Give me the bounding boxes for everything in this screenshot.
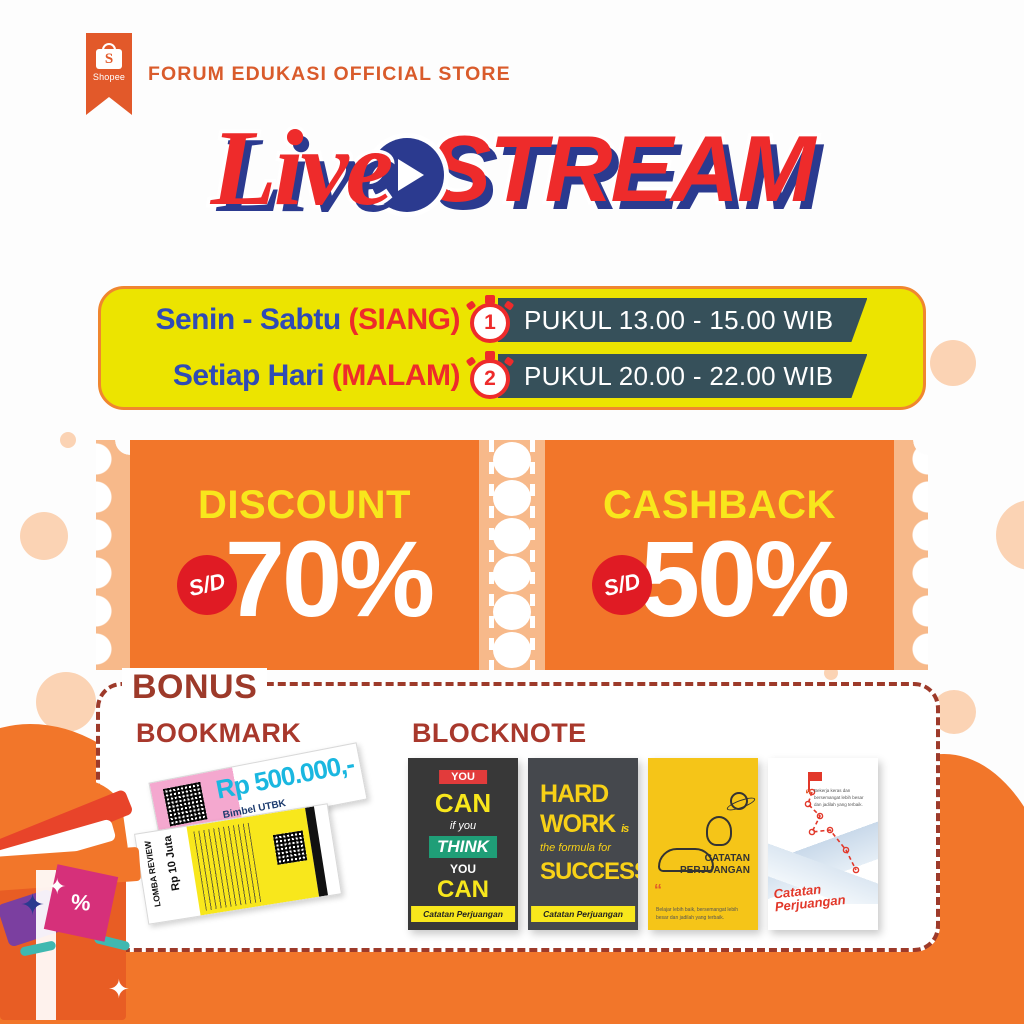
title-stream: STREAM — [428, 122, 813, 216]
schedule-day: Senin - Sabtu (SIANG) — [101, 303, 466, 337]
note-line-2: WORK is — [540, 810, 628, 839]
store-header: S Shopee FORUM EDUKASI OFFICIAL STORE — [86, 33, 511, 115]
note-line-3: if you — [408, 820, 518, 832]
note-line-1: HARD — [540, 780, 608, 809]
stopwatch-icon: 2 — [468, 351, 512, 401]
decor-dot — [20, 512, 68, 560]
promo-poster: S Shopee FORUM EDUKASI OFFICIAL STORE Li… — [0, 0, 1024, 1024]
stopwatch-number: 1 — [470, 303, 510, 343]
note-line-2: CAN — [408, 788, 518, 819]
shopee-logo-text: Shopee — [93, 72, 125, 82]
decor-dot — [996, 500, 1024, 570]
star-icon: ✦ — [20, 888, 45, 923]
note-line-4: SUCCESS — [540, 858, 638, 886]
note-line-3: the formula for — [540, 842, 611, 854]
schedule-row: Setiap Hari (MALAM) 2 PUKUL 20.00 - 22.0… — [101, 350, 923, 402]
decor-dot — [60, 432, 76, 448]
note-badge: Catatan Perjuangan — [411, 906, 515, 922]
title-live: Live — [211, 118, 391, 221]
schedule-period: (SIANG) — [349, 303, 461, 336]
coupon-perforation — [479, 440, 545, 670]
schedule-panel: Senin - Sabtu (SIANG) 1 PUKUL 13.00 - 15… — [98, 286, 926, 410]
gift-box-illustration: % ✦ ✦ ✦ — [0, 778, 180, 1024]
blocknote-cover: “ Bekerja keras dan bersemangat lebih be… — [768, 758, 878, 930]
stopwatch-number: 2 — [470, 359, 510, 399]
bonus-title: BONUS — [122, 668, 267, 707]
planet-icon — [730, 792, 748, 810]
discount-value: 70% — [225, 530, 432, 627]
cashback-coupon: CASHBACK S/D 50% — [545, 440, 894, 670]
quote-icon: “ — [805, 786, 812, 802]
qr-code-icon — [273, 830, 307, 864]
schedule-day: Setiap Hari (MALAM) — [101, 359, 466, 393]
decor-dot — [930, 340, 976, 386]
schedule-time: PUKUL 13.00 - 15.00 WIB — [498, 298, 867, 342]
cashback-value: 50% — [640, 530, 847, 627]
shopee-logo-letter: S — [96, 51, 122, 68]
schedule-row: Senin - Sabtu (SIANG) 1 PUKUL 13.00 - 15… — [101, 294, 923, 346]
schedule-period: (MALAM) — [332, 359, 460, 392]
discount-coupon: DISCOUNT S/D 70% — [130, 440, 479, 670]
coupon-scallop-left — [96, 440, 130, 670]
blocknote-cover: CATATAN PERJUANGAN “ Belajar lebih baik,… — [648, 758, 758, 930]
decor-dot — [36, 672, 96, 732]
quote-icon: “ — [654, 882, 662, 900]
note-quote: Belajar lebih baik, bersemangat lebih be… — [656, 907, 750, 922]
page-title: Live STREAM — [0, 118, 1024, 221]
star-icon: ✦ — [48, 874, 66, 900]
star-icon: ✦ — [108, 974, 130, 1005]
blocknote-images: YOU CAN if you THINK YOU CAN Catatan Per… — [408, 758, 878, 930]
lightbulb-icon — [706, 816, 732, 846]
note-caption: CATATAN PERJUANGAN — [648, 853, 750, 876]
note-line-6: CAN — [408, 876, 518, 904]
coupon-scallop-right — [894, 440, 928, 670]
blocknote-label: BLOCKNOTE — [412, 718, 587, 749]
schedule-time: PUKUL 20.00 - 22.00 WIB — [498, 354, 867, 398]
store-name: FORUM EDUKASI OFFICIAL STORE — [148, 63, 511, 86]
blocknote-cover: YOU CAN if you THINK YOU CAN Catatan Per… — [408, 758, 518, 930]
shopping-bag-icon: S — [96, 43, 122, 69]
note-line-5: YOU — [408, 862, 518, 876]
blocknote-cover: HARD WORK is the formula for SUCCESS Cat… — [528, 758, 638, 930]
note-quote: Bekerja keras dan bersemangat lebih besa… — [814, 788, 872, 808]
note-line-4: THINK — [429, 836, 497, 858]
shopee-logo-icon: S Shopee — [86, 33, 132, 115]
stopwatch-icon: 1 — [468, 295, 512, 345]
bookmark-label: BOOKMARK — [136, 718, 301, 749]
perforation-holes — [493, 441, 531, 669]
note-badge: Catatan Perjuangan — [531, 906, 635, 922]
coupon-strip: DISCOUNT S/D 70% CASHBACK S/D 50% — [96, 440, 928, 670]
note-line-1: YOU — [439, 770, 487, 784]
